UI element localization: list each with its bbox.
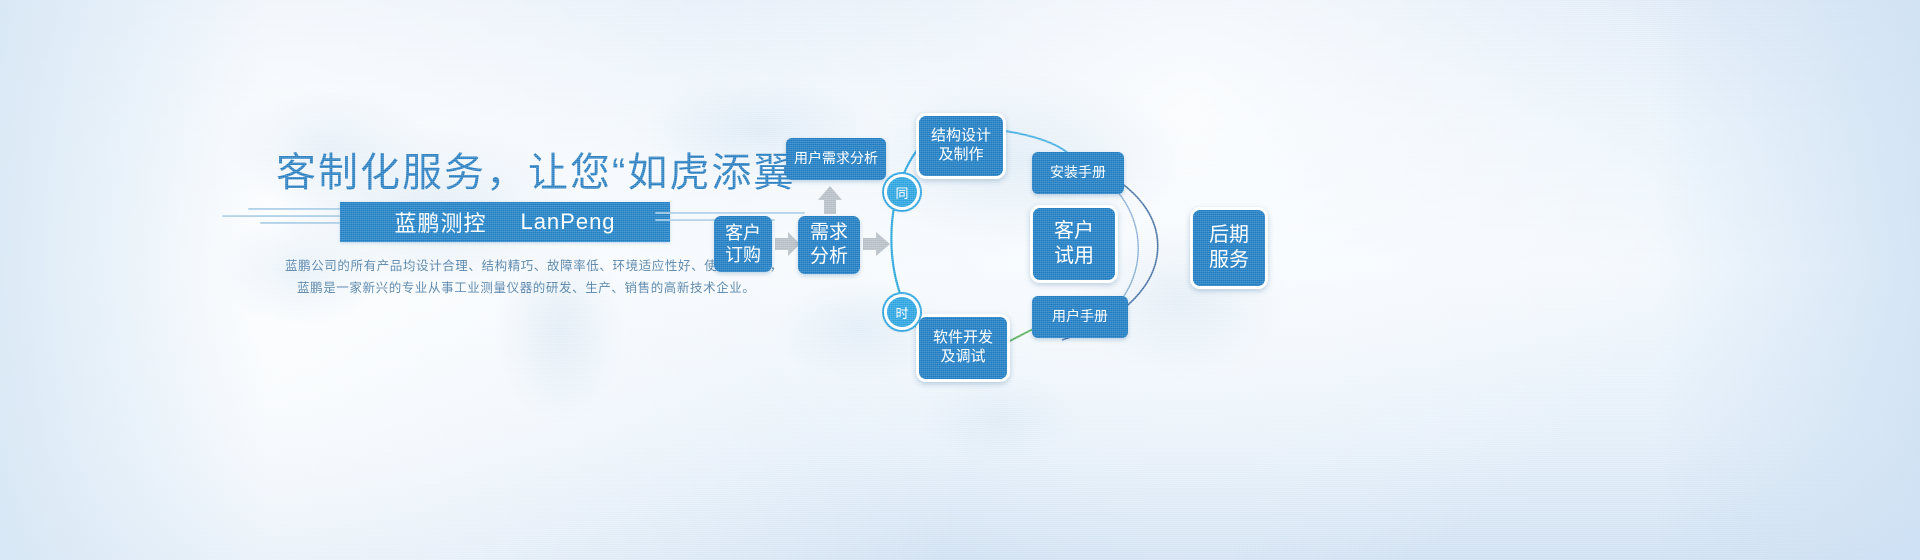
node-structure-design-label: 结构设计及制作 <box>931 127 991 165</box>
flow-connectors <box>0 0 1920 560</box>
node-user-manual[interactable]: 用户手册 <box>1032 296 1128 338</box>
node-customer-order[interactable]: 客户订购 <box>714 216 772 272</box>
node-installation-manual[interactable]: 安装手册 <box>1032 152 1124 194</box>
node-customer-trial-label: 客户试用 <box>1054 219 1094 269</box>
node-software-development-label: 软件开发及调试 <box>933 329 993 367</box>
node-customer-order-label: 客户订购 <box>725 222 761 267</box>
marker-tong-icon: 同 <box>884 174 920 210</box>
node-after-sales-service[interactable]: 后期服务 <box>1190 207 1268 289</box>
node-after-sales-service-label: 后期服务 <box>1209 223 1249 273</box>
node-requirement-analysis-label: 需求分析 <box>810 221 848 269</box>
arrow-analysis-to-user-requirement <box>818 186 842 214</box>
node-user-requirement-analysis[interactable]: 用户需求分析 <box>786 138 886 180</box>
node-software-development[interactable]: 软件开发及调试 <box>916 314 1010 382</box>
node-requirement-analysis[interactable]: 需求分析 <box>798 216 860 274</box>
arrow-order-to-analysis <box>775 232 800 256</box>
arrow-analysis-to-cycle <box>863 232 890 256</box>
banner-stage: 客制化服务，让您“如虎添翼” 蓝鹏测控 LanPeng 蓝鹏公司的所有产品均设计… <box>0 0 1920 560</box>
marker-shi-icon: 时 <box>884 294 920 330</box>
node-structure-design[interactable]: 结构设计及制作 <box>916 113 1006 179</box>
node-customer-trial[interactable]: 客户试用 <box>1030 205 1118 283</box>
